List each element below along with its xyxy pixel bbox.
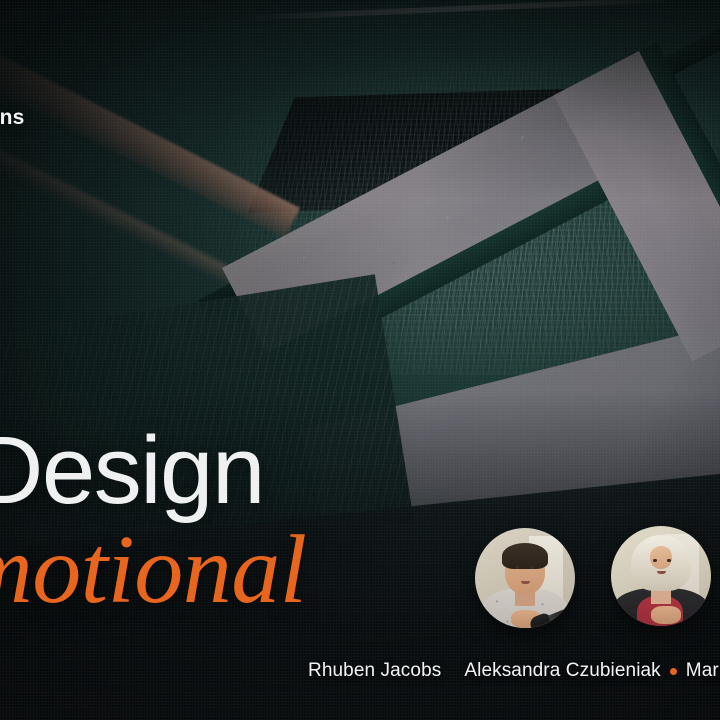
thumbnail-canvas: motions Design motional xyxy=(0,0,720,720)
microphone-boom xyxy=(548,608,570,622)
avatar-eye-left xyxy=(515,566,519,569)
avatar-hair xyxy=(631,535,691,591)
avatar-eye-right xyxy=(667,559,671,562)
avatar-hair xyxy=(502,543,548,569)
headline-line-primary: Design xyxy=(0,424,306,518)
avatar-eye-right xyxy=(530,566,534,569)
headline-line-accent: motional xyxy=(0,522,306,618)
avatar-eye-left xyxy=(653,559,657,562)
avatar-guest-2[interactable] xyxy=(611,526,711,626)
avatar-hands xyxy=(651,606,681,624)
speaker-name-2: Aleksandra Czubieniak xyxy=(464,660,660,682)
kicker-label: motions xyxy=(0,106,24,130)
speaker-separator-dot-icon xyxy=(670,668,677,675)
speaker-name-1: Rhuben Jacobs xyxy=(308,660,441,682)
speaker-name-3: Marian xyxy=(686,660,720,682)
speakers-line: Rhuben Jacobs Aleksandra Czubieniak Mari… xyxy=(308,660,720,682)
avatar-guest-1[interactable] xyxy=(475,528,575,628)
headline: Design motional xyxy=(0,424,306,618)
avatar-face xyxy=(650,546,672,568)
